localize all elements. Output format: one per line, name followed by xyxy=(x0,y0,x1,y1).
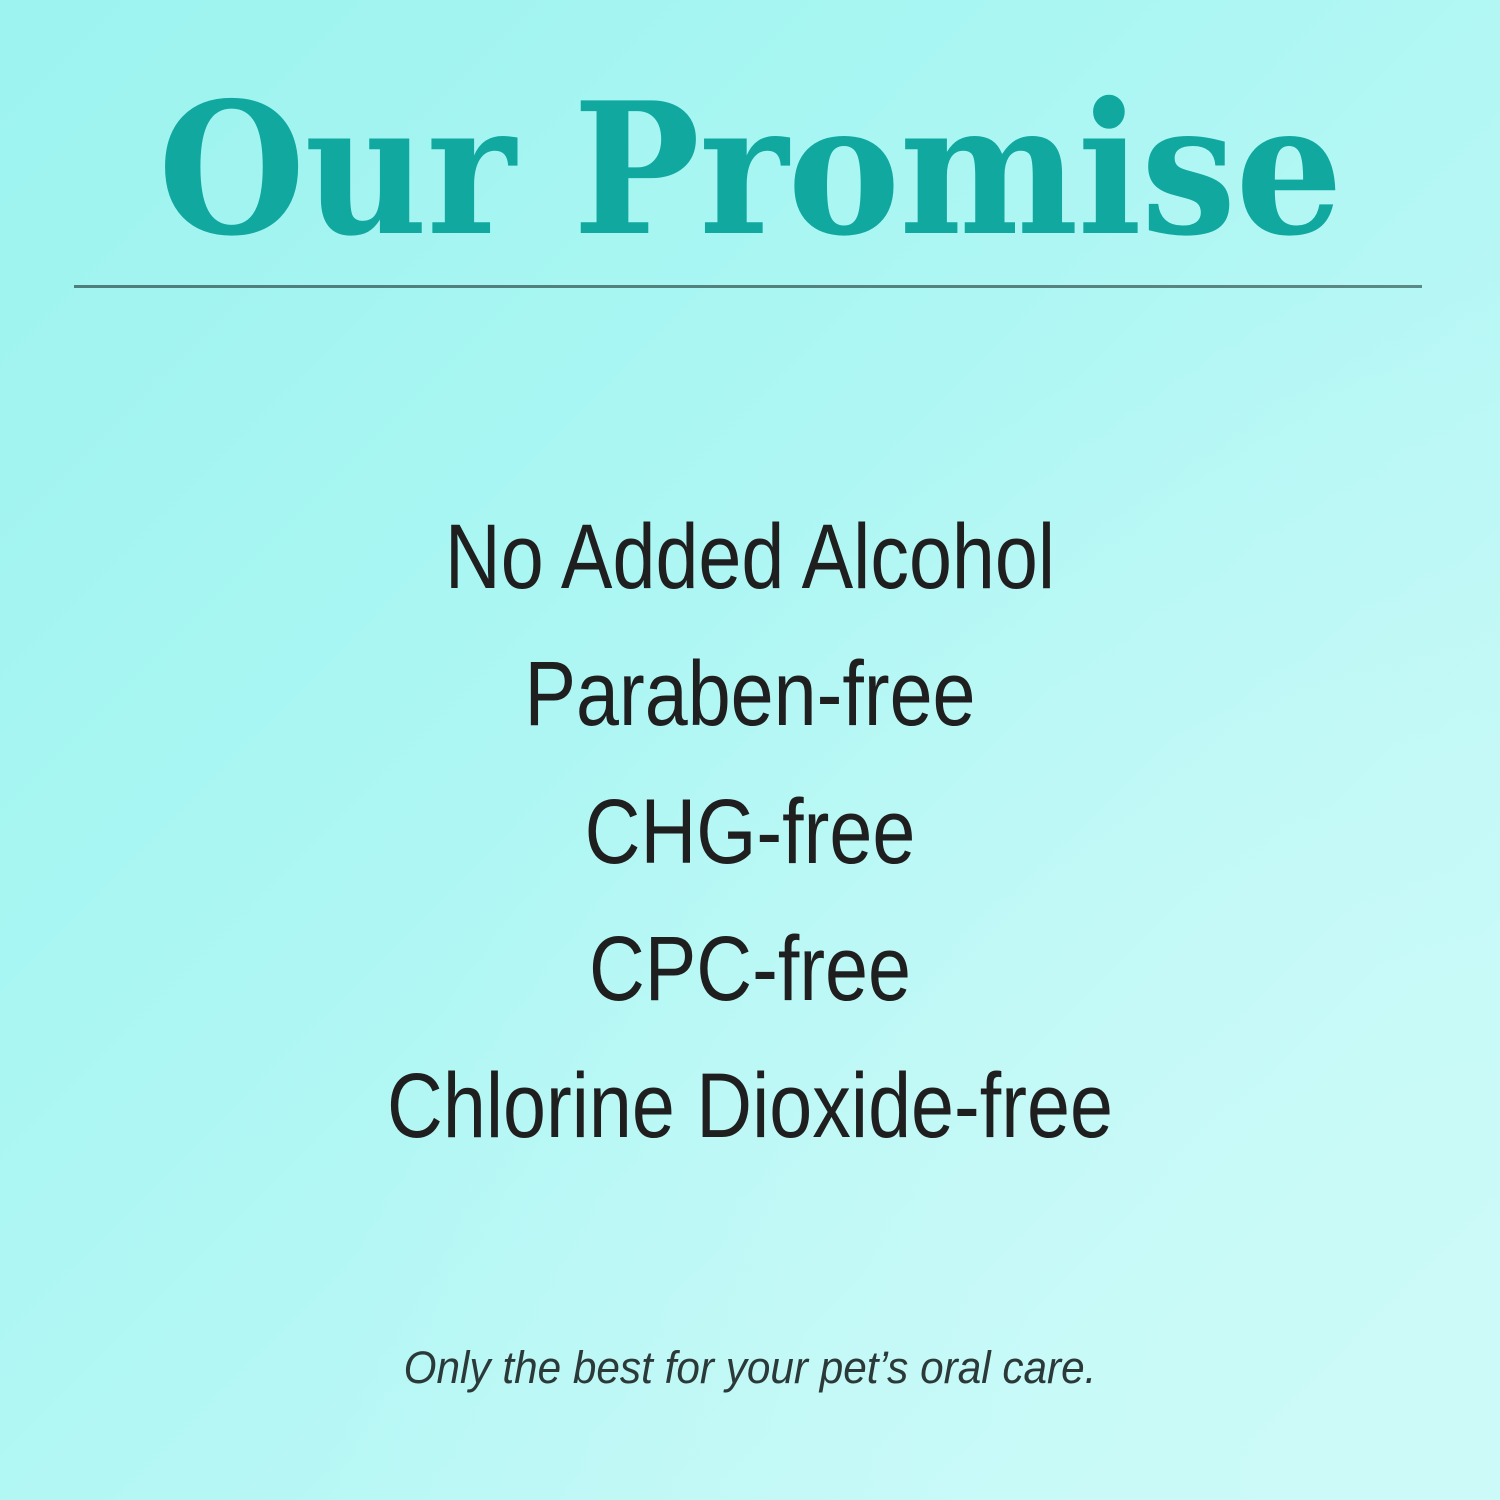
list-item: Paraben-free xyxy=(120,645,1380,744)
title-divider xyxy=(74,285,1422,288)
tagline-text: Only the best for your pet’s oral care. xyxy=(45,1341,1455,1395)
promise-poster: Our Promise No Added Alcohol Paraben-fre… xyxy=(0,0,1500,1500)
list-item: CPC-free xyxy=(120,920,1380,1019)
list-item: No Added Alcohol xyxy=(120,508,1380,607)
page-title: Our Promise xyxy=(53,78,1448,260)
title-block: Our Promise xyxy=(0,78,1500,260)
list-item: Chlorine Dioxide-free xyxy=(120,1057,1380,1156)
promise-list: No Added Alcohol Paraben-free CHG-free C… xyxy=(0,508,1500,1157)
list-item: CHG-free xyxy=(120,783,1380,882)
